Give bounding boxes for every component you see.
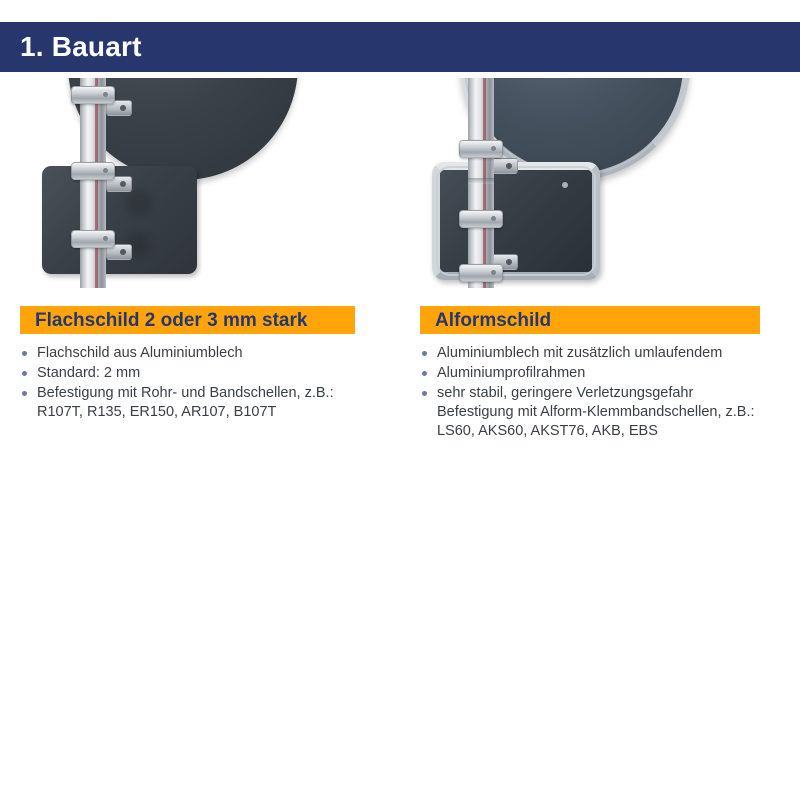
alform-clamp [459,210,503,228]
alform-clamp [459,140,503,158]
bullet-list-alformschild: Aluminiumblech mit zusätzlich umlaufende… [420,344,780,442]
alformschild-photo [420,78,780,288]
bullet-text-continued: Befestigung mit Alform-Klemmbandschellen… [437,403,780,422]
list-item: Aluminiumprofilrahmen [420,364,780,383]
bullet-dot-icon [22,371,27,376]
bullet-dot-icon [422,371,427,376]
list-item: Befestigung mit Rohr- und Bandschellen, … [20,384,380,422]
bullet-dot-icon [22,391,27,396]
bullet-text-continued: LS60, AKS60, AKST76, AKB, EBS [437,422,780,441]
band-clamp [71,162,115,180]
band-clamp [71,86,115,104]
flachschild-photo [20,78,380,288]
caption-label: Flachschild 2 oder 3 mm stark [20,311,307,330]
bullet-text: Flachschild aus Aluminiumblech [37,345,243,361]
caption-bar-flachschild: Flachschild 2 oder 3 mm stark [20,306,355,334]
bullet-text: Befestigung mit Rohr- und Bandschellen, … [37,385,334,401]
bullet-text: Aluminiumprofilrahmen [437,365,585,381]
column-flachschild: Flachschild 2 oder 3 mm stark Flachschil… [0,78,400,288]
caption-label: Alformschild [420,311,551,330]
page-title: 1. Bauart [0,33,142,61]
pole-seam [468,178,494,184]
caption-bar-alformschild: Alformschild [420,306,760,334]
list-item: Standard: 2 mm [20,364,380,383]
bullet-dot-icon [22,351,27,356]
alform-clamp [459,264,503,282]
list-item: Aluminiumblech mit zusätzlich umlaufende… [420,344,780,363]
galvanised-pole [80,78,106,288]
bullet-text: Standard: 2 mm [37,365,140,381]
content-columns: Flachschild 2 oder 3 mm stark Flachschil… [0,78,800,288]
bullet-list-flachschild: Flachschild aus Aluminiumblech Standard:… [20,344,380,423]
list-item: sehr stabil, geringere Verletzungsgefahr… [420,384,780,441]
bracket [492,158,518,174]
band-clamp [71,230,115,248]
column-alformschild: Alformschild Aluminiumblech mit zusätzli… [400,78,800,288]
screw-icon [562,182,568,188]
bullet-dot-icon [422,351,427,356]
section-header-bar: 1. Bauart [0,22,800,72]
bullet-text: sehr stabil, geringere Verletzungsgefahr [437,385,693,401]
bullet-dot-icon [422,391,427,396]
bullet-text-continued: R107T, R135, ER150, AR107, B107T [37,403,380,422]
bullet-text: Aluminiumblech mit zusätzlich umlaufende… [437,345,722,361]
list-item: Flachschild aus Aluminiumblech [20,344,380,363]
